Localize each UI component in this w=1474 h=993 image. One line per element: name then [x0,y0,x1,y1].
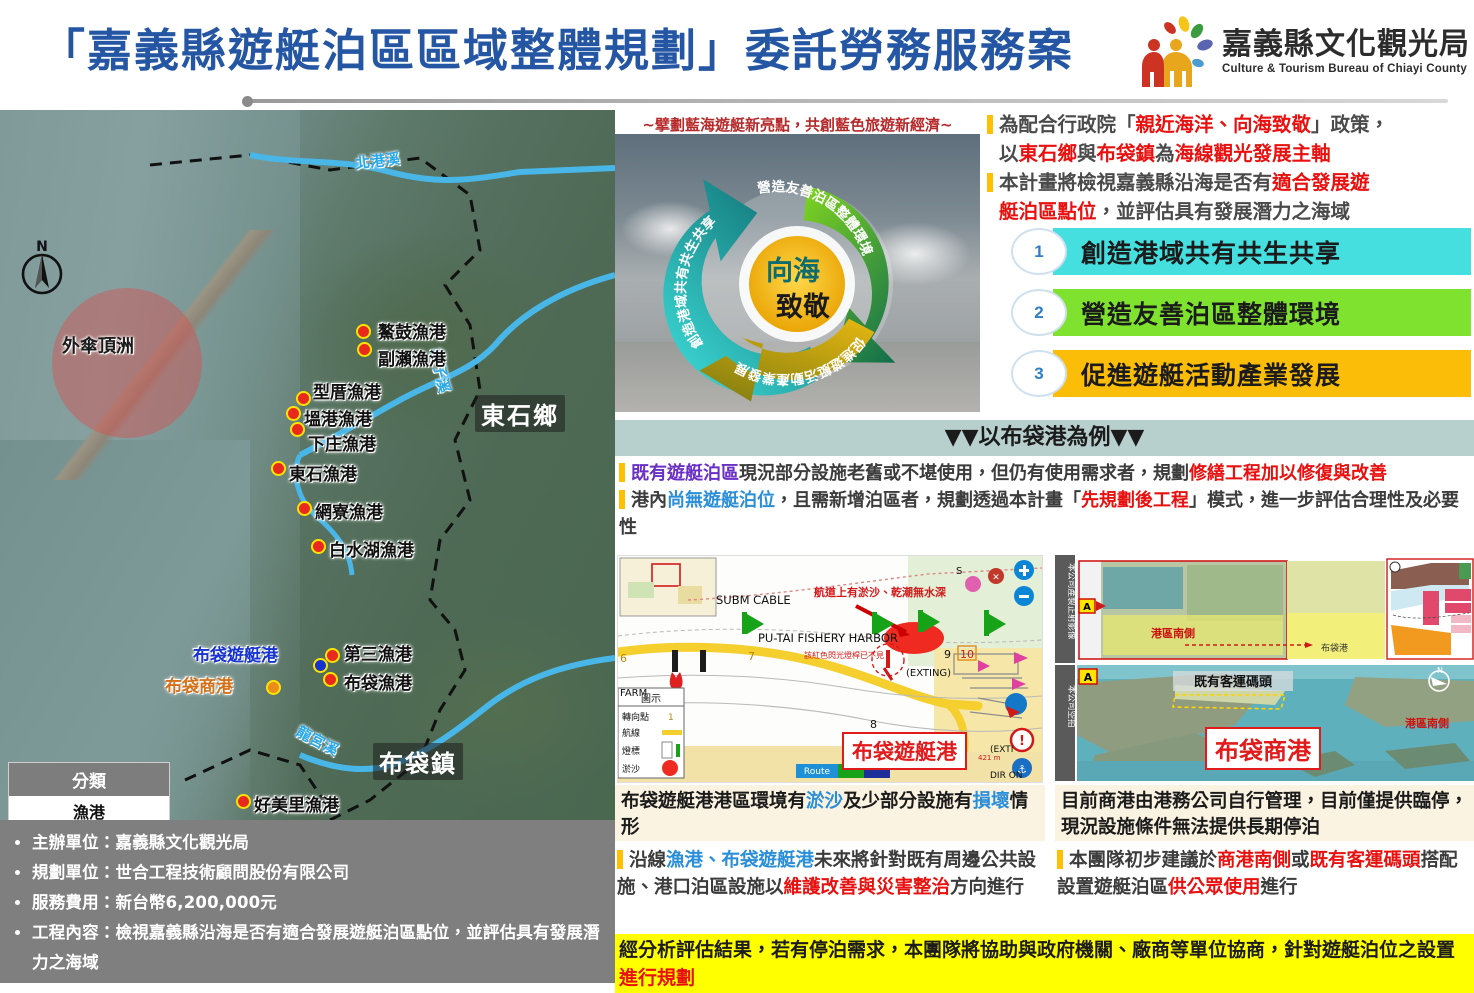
aerial-imagery-block: 本公司產製正射影像 本公司空拍 港區南側 布袋港 [1055,555,1474,783]
intro-line-4: 艇泊區點位，並評估具有發展潛力之海域 [987,197,1474,226]
map-legend-items: 漁港 (第二類漁港) 商港(國內) 遊艇港 [9,796,169,820]
concl-0: 經分析評估結果，若有停泊需求，本團隊將協助與政府機關、廠商等單位協商，針對遊艇泊… [619,939,1455,961]
logo-name-zh: 嘉義縣文化觀光局 [1222,28,1470,62]
intro-text-f: 本計畫將檢視嘉義縣沿海是否有 [999,171,1272,194]
port-label-baishuihu: 白水湖漁港 [329,536,414,561]
intro-text-highlight-2: 東石鄉 [1019,142,1078,165]
port-label-budai-yacht: 布袋遊艇港 [193,641,278,666]
intro-text-e: 為 [1155,142,1175,165]
map-legend: 分類 漁港 (第二類漁港) 商港(國內) 遊艇港 [8,762,170,820]
map-highlight-circle [52,288,202,438]
panel-budai-yacht-harbour: ✕ ! ⚓ 圖示 轉向點 1 航線 [615,555,1045,983]
conclusion-highlight-bar: 經分析評估結果，若有停泊需求，本團隊將協助與政府機關、廠商等單位協商，針對遊艇泊… [615,934,1474,993]
svg-text:DIR ON: DIR ON [990,771,1023,781]
list-item: 規劃單位：世合工程技術顧問股份有限公司 [32,858,605,888]
cycle-arrows: 向海 致敬 創造港域共有共生共享 營造友善泊區整體環境 促進遊艇活動產業發展 [615,134,980,412]
intro-text-d: 與 [1077,142,1097,165]
cycle-tagline: ~擘劃藍海遊艇新亮點，共創藍色旅遊新經濟~ [615,114,980,135]
town-label-dongshi: 東石鄉 [475,395,565,432]
panel-right-bullet-box: 本團隊初步建議於商港南側或既有客運碼頭搭配設置遊艇泊區供公眾使用進行 [1057,847,1474,901]
port-marker-budai-commercial[interactable] [266,680,281,695]
town-label-budai: 布袋鎮 [373,743,463,780]
svg-text:!: ! [1019,734,1025,749]
port-marker-xiazhuang[interactable] [290,422,305,437]
conclusion-text: 經分析評估結果，若有停泊需求，本團隊將協助與政府機關、廠商等單位協商，針對遊艇泊… [619,936,1470,992]
bullet-marker-icon [1057,850,1063,869]
svg-text:S: S [956,566,962,577]
map-legend-title: 分類 [9,763,169,796]
port-label-budai-commercial: 布袋商港 [165,672,233,697]
list-item: 服務費用：新台幣6,200,000元 [32,888,605,918]
svg-text:港區南側: 港區南側 [1405,716,1449,730]
svg-text:既有客運碼頭: 既有客運碼頭 [1194,674,1273,690]
svg-text:N: N [1437,666,1443,675]
svg-text:航道上有淤沙、乾潮無水深: 航道上有淤沙、乾潮無水深 [814,585,947,599]
port-marker-haomeili[interactable] [236,794,251,809]
port-label-dongshi: 東石漁港 [289,460,357,485]
example-bullet-list: 既有遊艇泊區現況部分設施老舊或不堪使用，但仍有使用需求者，規劃修繕工程加以修復與… [619,460,1471,541]
svg-text:421 m: 421 m [978,754,1001,762]
slide-header: 「嘉義縣遊艇泊區區域整體規劃」委託勞務服務案 嘉義縣文化觀光局 Culture [0,0,1474,110]
intro-text-c: 以 [999,142,1019,165]
bullet-marker-icon [619,463,625,482]
panel-left-summary-text: 布袋遊艇港港區環境有淤沙及少部分設施有損壞情形 [621,789,1039,841]
svg-text:港區南側: 港區南側 [1151,626,1195,640]
svg-text:航線: 航線 [622,727,640,739]
goal-item-3[interactable]: 3 促進遊艇活動產業發展 [1011,350,1471,397]
port-label-xiazhuang: 下庄漁港 [308,430,376,455]
project-info-block: 主辦單位：嘉義縣文化觀光局 規劃單位：世合工程技術顧問股份有限公司 服務費用：新… [0,820,615,983]
eb1-seg-1: 現況部分設施老舊或不堪使用，但仍有使用需求者，規劃 [739,463,1189,484]
port-marker-third-fishery[interactable] [325,648,340,663]
panel-right-bullet-text: 本團隊初步建議於商港南側或既有客運碼頭搭配設置遊艇泊區供公眾使用進行 [1057,847,1472,901]
svg-text:本公司空拍: 本公司空拍 [1066,685,1077,728]
port-marker-aogu[interactable] [356,324,371,339]
svg-text:致敬: 致敬 [776,292,830,323]
project-goals-list: 1 創造港域共有共生共享 2 營造友善泊區整體環境 3 促進遊艇活動產業發展 [1011,228,1471,411]
intro-text-highlight-1: 親近海洋、向海致敬 [1136,113,1312,136]
right-content-column: ~擘劃藍海遊艇新亮點，共創藍色旅遊新經濟~ [615,110,1474,983]
port-label-haomeili: 好美里漁港 [254,791,339,816]
prb-0: 本團隊初步建議於 [1069,850,1217,871]
svg-text:6: 6 [620,652,627,665]
panel-budai-commercial-harbour: 本公司產製正射影像 本公司空拍 港區南側 布袋港 [1055,555,1474,983]
eb2-seg-3: 先規劃後工程 [1081,490,1189,511]
page-title: 「嘉義縣遊艇泊區區域整體規劃」委託勞務服務案 [40,16,1110,86]
logo-text-block: 嘉義縣文化觀光局 Culture & Tourism Bureau of Chi… [1222,28,1470,76]
panel-right-summary-box: 目前商港由港務公司自行管理，目前僅提供臨停，現況設施條件無法提供長期停泊 [1055,785,1474,841]
port-label-xingcuo: 型厝漁港 [313,378,381,403]
plb-0: 沿線 [629,850,666,871]
svg-text:10: 10 [960,648,974,661]
pls-0: 布袋遊艇港港區環境有 [621,791,806,812]
prb-3: 既有客運碼頭 [1310,850,1421,871]
svg-text:淤沙: 淤沙 [622,763,640,775]
intro-text-highlight-5: 適合發展遊 [1272,171,1370,194]
eb2-seg-2: ，且需新增泊區者，規劃透過本計畫「 [775,490,1081,511]
pls-1: 淤沙 [806,791,843,812]
nautical-chart-svg: ✕ ! ⚓ 圖示 轉向點 1 航線 [618,556,1042,782]
prb-2: 或 [1291,850,1310,871]
svg-text:PU-TAI FISHERY HARBOR: PU-TAI FISHERY HARBOR [758,631,898,645]
svg-text:向海: 向海 [766,255,820,287]
intro-line-2: 以東石鄉與布袋鎮為海線觀光發展主軸 [987,139,1474,168]
chart-tag-budai-yacht: 布袋遊艇港 [842,732,967,770]
intro-text-highlight-6: 艇泊區點位 [999,200,1097,223]
svg-text:✕: ✕ [992,573,1000,583]
svg-text:轉向點: 轉向點 [622,711,649,723]
bullet-marker-icon [619,490,625,509]
goal-label-3: 促進遊艇活動產業發展 [1081,356,1341,392]
chiayi-coast-map: N 外傘頂洲 北港溪 朴子溪 龍宮溪 八掌溪 東石鄉 布袋鎮 鰲鼓漁港 副瀨漁港… [0,110,615,820]
comparison-panels: ✕ ! ⚓ 圖示 轉向點 1 航線 [615,555,1474,983]
eb2-seg-1: 尚無遊艇泊位 [667,490,775,511]
intro-text-b: 」政策， [1311,113,1389,136]
goal-item-2[interactable]: 2 營造友善泊區整體環境 [1011,289,1471,336]
pls-3: 損壞 [973,791,1010,812]
policy-intro-block: 為配合行政院「親近海洋、向海致敬」政策， 以東石鄉與布袋鎮為海線觀光發展主軸 本… [987,110,1474,226]
svg-text:SUBM CABLE: SUBM CABLE [716,593,791,607]
organization-logo: 嘉義縣文化觀光局 Culture & Tourism Bureau of Chi… [1140,12,1470,92]
goal-item-1[interactable]: 1 創造港域共有共生共享 [1011,228,1471,275]
eb1-seg-0: 既有遊艇泊區 [631,463,739,484]
bullet-marker-icon [987,115,993,134]
svg-text:A: A [1084,671,1093,684]
bullet-marker-icon [987,173,993,192]
panel-right-summary-text: 目前商港由港務公司自行管理，目前僅提供臨停，現況設施條件無法提供長期停泊 [1061,789,1468,841]
svg-text:FARM: FARM [620,688,647,699]
example-bullet-1: 既有遊艇泊區現況部分設施老舊或不堪使用，但仍有使用需求者，規劃修繕工程加以修復與… [619,460,1471,487]
project-info-list: 主辦單位：嘉義縣文化觀光局 規劃單位：世合工程技術顧問股份有限公司 服務費用：新… [14,828,605,978]
slide-root: 「嘉義縣遊艇泊區區域整體規劃」委託勞務服務案 嘉義縣文化觀光局 Culture [0,0,1474,983]
svg-text:N: N [36,239,48,255]
eb1-seg-2: 修繕工程加以修復與改善 [1189,463,1387,484]
aerial-tag-budai-commercial: 布袋商港 [1205,727,1321,770]
svg-text:本公司產製正射影像: 本公司產製正射影像 [1066,563,1077,640]
svg-text:7: 7 [748,650,755,663]
goal-number-2: 2 [1011,289,1067,336]
eb2-seg-0: 港內 [631,490,667,511]
legend-item-fishery: 漁港 [13,802,165,820]
svg-text:該紅色閃光燈桿已不見: 該紅色閃光燈桿已不見 [804,650,884,660]
plb-1: 漁港、布袋遊艇港 [666,850,814,871]
example-section-heading: ▼▼以布袋港為例▼▼ [615,420,1474,456]
port-marker-baishuihu[interactable] [311,539,326,554]
port-marker-fulai[interactable] [357,342,372,357]
xianghai-zhijing-cycle-diagram: 向海 致敬 創造港域共有共生共享 營造友善泊區整體環境 促進遊艇活動產業發展 [615,134,980,412]
intro-text-g: ，並評估具有發展潛力之海域 [1097,200,1351,223]
intro-line-1: 為配合行政院「親近海洋、向海致敬」政策， [987,110,1474,139]
port-marker-xingcuo[interactable] [296,391,311,406]
list-item: 工程內容：檢視嘉義縣沿海是否有適合發展遊艇泊區點位，並評估具有發展潛力之海域 [32,918,605,978]
panel-left-bullet-box: 沿線漁港、布袋遊艇港未來將針對既有周邊公共設施、港口泊區設施以維護改善與災害整治… [617,847,1047,901]
list-item: 主辦單位：嘉義縣文化觀光局 [32,828,605,858]
intro-line-3: 本計畫將檢視嘉義縣沿海是否有適合發展遊 [987,168,1474,197]
compass-north-icon: N [18,238,66,298]
goal-label-2: 營造友善泊區整體環境 [1081,295,1341,331]
svg-text:布袋港: 布袋港 [1321,642,1348,654]
port-label-budai-fishery: 布袋漁港 [344,669,412,694]
port-label-aogu: 鰲鼓漁港 [378,318,446,343]
plb-3: 維護改善與災害整治 [784,877,951,898]
svg-text:A: A [1083,602,1091,613]
svg-text:8: 8 [870,718,877,731]
map-label-waisandingzhou: 外傘頂洲 [62,332,134,358]
port-label-third-fishery: 第三漁港 [344,640,412,665]
port-label-wangliao: 網寮漁港 [315,498,383,523]
svg-text:1: 1 [668,713,674,723]
plb-4: 方向進行 [950,877,1024,898]
port-label-fulai: 副瀨漁港 [378,345,446,370]
port-marker-budai-fishery[interactable] [323,672,338,687]
goal-number-3: 3 [1011,350,1067,397]
panel-left-bullet-text: 沿線漁港、布袋遊艇港未來將針對既有周邊公共設施、港口泊區設施以維護改善與災害整治… [617,847,1043,901]
nautical-chart-image: ✕ ! ⚓ 圖示 轉向點 1 航線 [617,555,1043,783]
svg-text:(EXTING): (EXTING) [906,668,951,679]
goal-label-1: 創造港域共有共生共享 [1081,234,1341,270]
bullet-marker-icon [617,850,623,869]
prb-1: 商港南側 [1217,850,1291,871]
svg-text:Route: Route [804,767,831,777]
port-marker-wengang[interactable] [286,406,301,421]
chiayi-bureau-logo-icon [1140,15,1216,89]
goal-number-1: 1 [1011,228,1067,275]
intro-text-highlight-4: 海線觀光發展主軸 [1175,142,1331,165]
svg-text:9: 9 [944,648,951,661]
example-bullet-2: 港內尚無遊艇泊位，且需新增泊區者，規劃透過本計畫「先規劃後工程」模式，進一步評估… [619,487,1471,541]
logo-name-en: Culture & Tourism Bureau of Chiayi Count… [1222,62,1470,76]
concl-1: 進行規劃 [619,967,695,989]
port-label-wengang: 塭港漁港 [304,405,372,430]
header-divider [248,99,1448,103]
prb-5: 供公眾使用 [1168,877,1261,898]
port-marker-wangliao[interactable] [297,501,312,516]
intro-text-a: 為配合行政院「 [999,113,1136,136]
svg-text:燈標: 燈標 [622,745,640,757]
panel-left-summary-box: 布袋遊艇港港區環境有淤沙及少部分設施有損壞情形 [615,785,1045,841]
intro-text-highlight-3: 布袋鎮 [1097,142,1156,165]
prb-6: 進行 [1261,877,1298,898]
pls-2: 及少部分設施有 [843,791,973,812]
port-marker-dongshi[interactable] [271,461,286,476]
